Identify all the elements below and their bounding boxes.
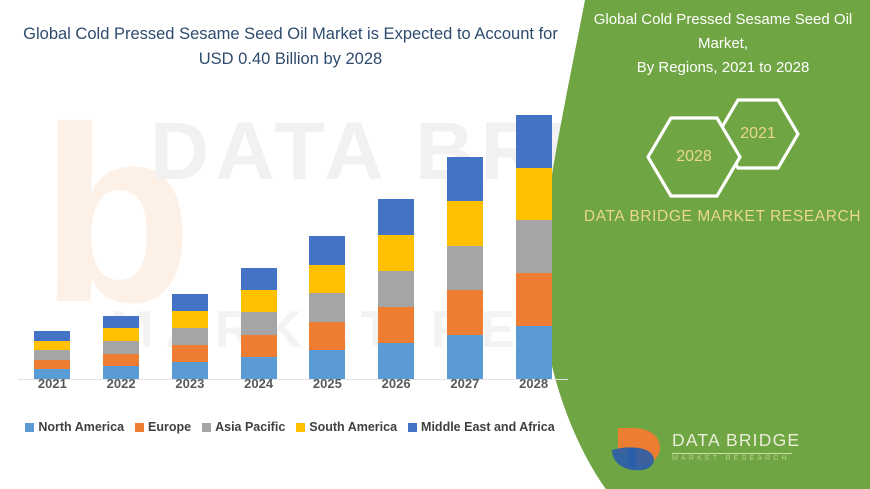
bar-segment-north-america[interactable] [516,326,552,379]
legend-swatch-icon [135,423,144,432]
x-axis-labels: 20212022202320242025202620272028 [18,376,568,398]
bar-segment-asia-pacific[interactable] [309,293,345,322]
dbmr-logo-name: DATA BRIDGE [672,430,800,451]
legend-label: Middle East and Africa [421,420,555,434]
legend-item-north-america[interactable]: North America [25,420,124,434]
bar-segment-europe[interactable] [378,307,414,343]
bar-segment-europe[interactable] [103,354,139,367]
x-tick-2021: 2021 [18,376,87,398]
hexagon-badges: 2021 2028 [575,95,870,185]
bar-segment-middle-east-and-africa[interactable] [103,316,139,329]
stacked-bar-2022[interactable] [103,316,139,379]
legend-item-middle-east-and-africa[interactable]: Middle East and Africa [408,420,555,434]
legend-label: North America [38,420,124,434]
bar-segment-europe[interactable] [309,322,345,351]
bar-segment-asia-pacific[interactable] [378,271,414,307]
bar-segment-asia-pacific[interactable] [103,341,139,354]
bar-slot [18,104,87,379]
x-tick-2028: 2028 [499,376,568,398]
bar-segment-south-america[interactable] [103,328,139,341]
bar-segment-south-america[interactable] [172,311,208,328]
bar-slot [362,104,431,379]
stacked-bar-group [18,104,568,379]
bar-segment-middle-east-and-africa[interactable] [241,268,277,290]
x-tick-2027: 2027 [431,376,500,398]
chart-legend: North AmericaEuropeAsia PacificSouth Ame… [0,415,580,439]
legend-item-asia-pacific[interactable]: Asia Pacific [202,420,285,434]
legend-swatch-icon [296,423,305,432]
bar-segment-south-america[interactable] [34,341,70,351]
chart-title: Global Cold Pressed Sesame Seed Oil Mark… [18,22,563,72]
bar-segment-north-america[interactable] [447,335,483,379]
dbmr-logo-tagline: MARKET RESEARCH [672,455,790,462]
legend-label: Europe [148,420,191,434]
bar-segment-asia-pacific[interactable] [447,246,483,290]
chart-plot-area [0,95,580,380]
bar-slot [156,104,225,379]
bar-segment-south-america[interactable] [447,201,483,245]
bar-segment-asia-pacific[interactable] [172,328,208,345]
dbmr-b-icon [610,424,668,474]
legend-label: South America [309,420,397,434]
bar-segment-europe[interactable] [241,335,277,357]
legend-item-europe[interactable]: Europe [135,420,191,434]
bar-segment-south-america[interactable] [241,290,277,312]
x-tick-2024: 2024 [224,376,293,398]
bar-segment-europe[interactable] [172,345,208,362]
panel-title: Global Cold Pressed Sesame Seed Oil Mark… [583,8,863,80]
stacked-bar-2024[interactable] [241,268,277,379]
stacked-bar-2026[interactable] [378,199,414,379]
dbmr-logo-rule [672,453,792,454]
bar-segment-asia-pacific[interactable] [34,350,70,360]
stacked-bar-2027[interactable] [447,157,483,379]
legend-swatch-icon [408,423,417,432]
infographic-root: b DATA BRIDGE MARKET RESEARCH Global Col… [0,0,870,489]
bar-segment-europe[interactable] [516,273,552,326]
green-panel-content: Global Cold Pressed Sesame Seed Oil Mark… [575,0,870,489]
bar-segment-north-america[interactable] [378,343,414,379]
bar-segment-europe[interactable] [447,290,483,334]
x-tick-2025: 2025 [293,376,362,398]
legend-swatch-icon [25,423,34,432]
legend-swatch-icon [202,423,211,432]
bar-slot [499,104,568,379]
bar-slot [87,104,156,379]
panel-brand: DATA BRIDGE MARKET RESEARCH [575,205,870,229]
bar-segment-asia-pacific[interactable] [241,312,277,334]
hexagon-2028-label: 2028 [645,115,743,199]
dbmr-logo: DATA BRIDGE MARKET RESEARCH [610,424,810,476]
bar-segment-south-america[interactable] [378,235,414,271]
bar-segment-middle-east-and-africa[interactable] [172,294,208,311]
bar-segment-south-america[interactable] [516,168,552,221]
legend-item-south-america[interactable]: South America [296,420,397,434]
x-tick-2022: 2022 [87,376,156,398]
bar-segment-middle-east-and-africa[interactable] [516,115,552,168]
bar-segment-north-america[interactable] [309,350,345,379]
bar-segment-asia-pacific[interactable] [516,220,552,273]
bar-segment-south-america[interactable] [309,265,345,294]
bar-slot [224,104,293,379]
bar-segment-middle-east-and-africa[interactable] [34,331,70,341]
stacked-bar-2021[interactable] [34,331,70,379]
x-tick-2026: 2026 [362,376,431,398]
stacked-bar-2025[interactable] [309,236,345,379]
bar-segment-middle-east-and-africa[interactable] [378,199,414,235]
bar-segment-middle-east-and-africa[interactable] [447,157,483,201]
stacked-bar-2023[interactable] [172,294,208,379]
hexagon-2028: 2028 [645,115,743,199]
legend-label: Asia Pacific [215,420,285,434]
bar-slot [431,104,500,379]
bar-slot [293,104,362,379]
x-tick-2023: 2023 [156,376,225,398]
bar-segment-europe[interactable] [34,360,70,370]
bar-segment-middle-east-and-africa[interactable] [309,236,345,265]
stacked-bar-2028[interactable] [516,115,552,379]
